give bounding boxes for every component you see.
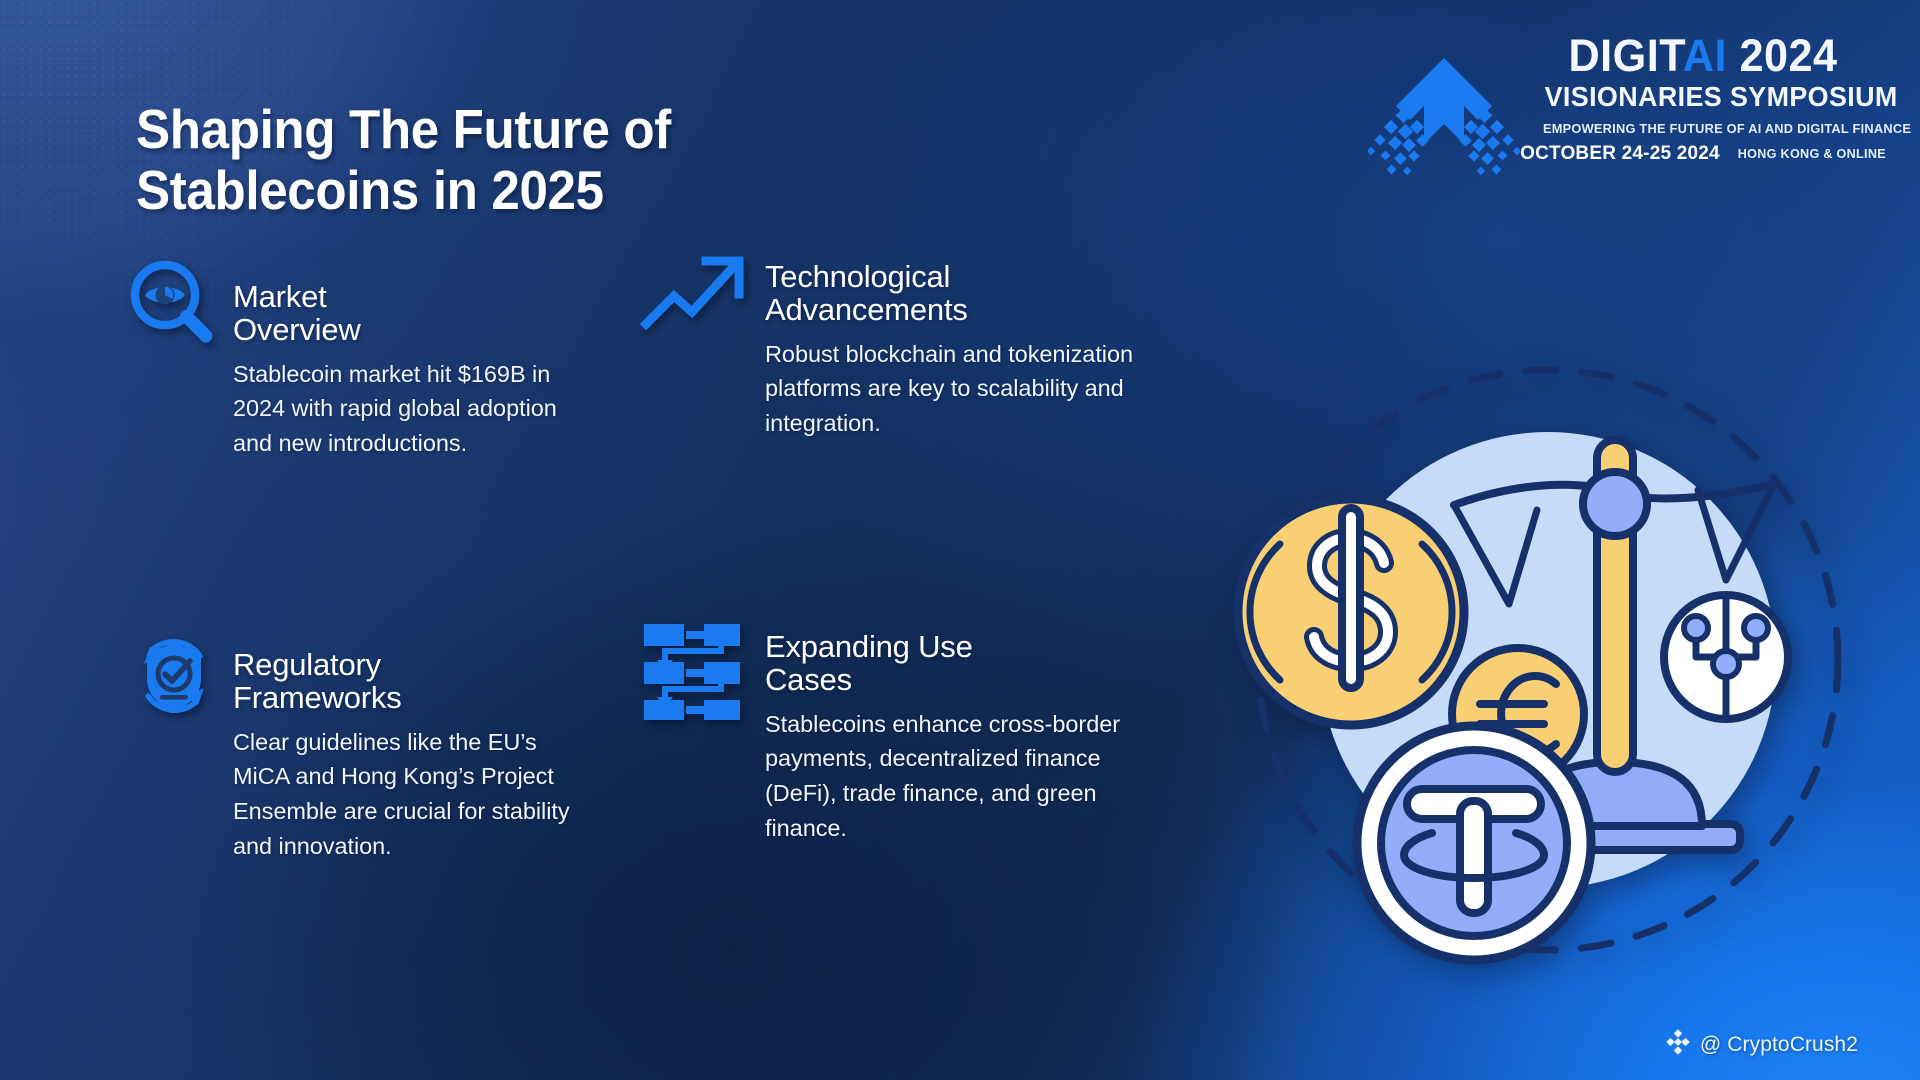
magnifier-eye-icon — [128, 258, 233, 461]
shield-check-refresh-icon — [128, 630, 233, 863]
event-logo-details: OCTOBER 24-25 2024 HONG KONG & ONLINE — [1538, 143, 1868, 165]
stablecoin-balance-illustration — [1218, 312, 1878, 972]
page-title: Shaping The Future of Stablecoins in 202… — [136, 99, 899, 222]
event-logo-title: DIGITAI 2024 — [1545, 34, 1862, 78]
watermark: @ CryptoCrush2 — [1665, 1029, 1858, 1060]
feature-technological-advancements-body: Technological Advancements Robust blockc… — [765, 248, 1160, 441]
logo-year: 2024 — [1727, 30, 1838, 81]
feature-regulatory-frameworks-body: Regulatory Frameworks Clear guidelines l… — [233, 630, 598, 863]
feature-title: Technological Advancements — [765, 260, 1160, 327]
feature-market-overview: Market Overview Stablecoin market hit $1… — [128, 258, 598, 461]
feature-description: Clear guidelines like the EU’s MiCA and … — [233, 725, 598, 863]
binance-diamond-icon — [1665, 1029, 1691, 1060]
feature-regulatory-frameworks: Regulatory Frameworks Clear guidelines l… — [128, 630, 598, 863]
feature-title: Expanding Use Cases — [765, 630, 1160, 697]
logo-digit-text: DIGIT — [1568, 30, 1682, 81]
event-logo-text: DIGITAI 2024 VISIONARIES SYMPOSIUM EMPOW… — [1538, 34, 1868, 165]
logo-ai-accent: AI — [1683, 30, 1727, 81]
usd-coin — [1238, 499, 1464, 725]
feature-expanding-use-cases: Expanding Use Cases Stablecoins enhance … — [640, 618, 1160, 845]
feature-technological-advancements: Technological Advancements Robust blockc… — [640, 248, 1160, 441]
feature-description: Robust blockchain and tokenization platf… — [765, 337, 1160, 441]
feature-expanding-use-cases-body: Expanding Use Cases Stablecoins enhance … — [765, 618, 1160, 845]
event-logo-tagline: EMPOWERING THE FUTURE OF AI AND DIGITAL … — [1543, 121, 1863, 136]
infographic-canvas: Shaping The Future of Stablecoins in 202… — [0, 0, 1920, 1080]
watermark-text: @ CryptoCrush2 — [1700, 1033, 1858, 1057]
event-date: OCTOBER 24-25 2024 — [1520, 143, 1720, 165]
feature-title: Regulatory Frameworks — [233, 648, 598, 715]
feature-description: Stablecoin market hit $169B in 2024 with… — [233, 357, 598, 461]
event-logo-subtitle: VISIONARIES SYMPOSIUM — [1545, 82, 1862, 112]
flowchart-nodes-icon — [640, 618, 765, 845]
event-logo: DIGITAI 2024 VISIONARIES SYMPOSIUM EMPOW… — [1368, 34, 1868, 202]
circuit-node-disc — [1664, 595, 1788, 719]
feature-description: Stablecoins enhance cross-border payment… — [765, 707, 1160, 845]
feature-title: Market Overview — [233, 280, 598, 347]
event-location: HONG KONG & ONLINE — [1738, 147, 1886, 161]
feature-market-overview-body: Market Overview Stablecoin market hit $1… — [233, 258, 598, 461]
pixel-chevron-up-icon — [1368, 48, 1520, 188]
trending-up-arrow-icon — [640, 248, 765, 441]
tether-coin — [1357, 726, 1591, 960]
